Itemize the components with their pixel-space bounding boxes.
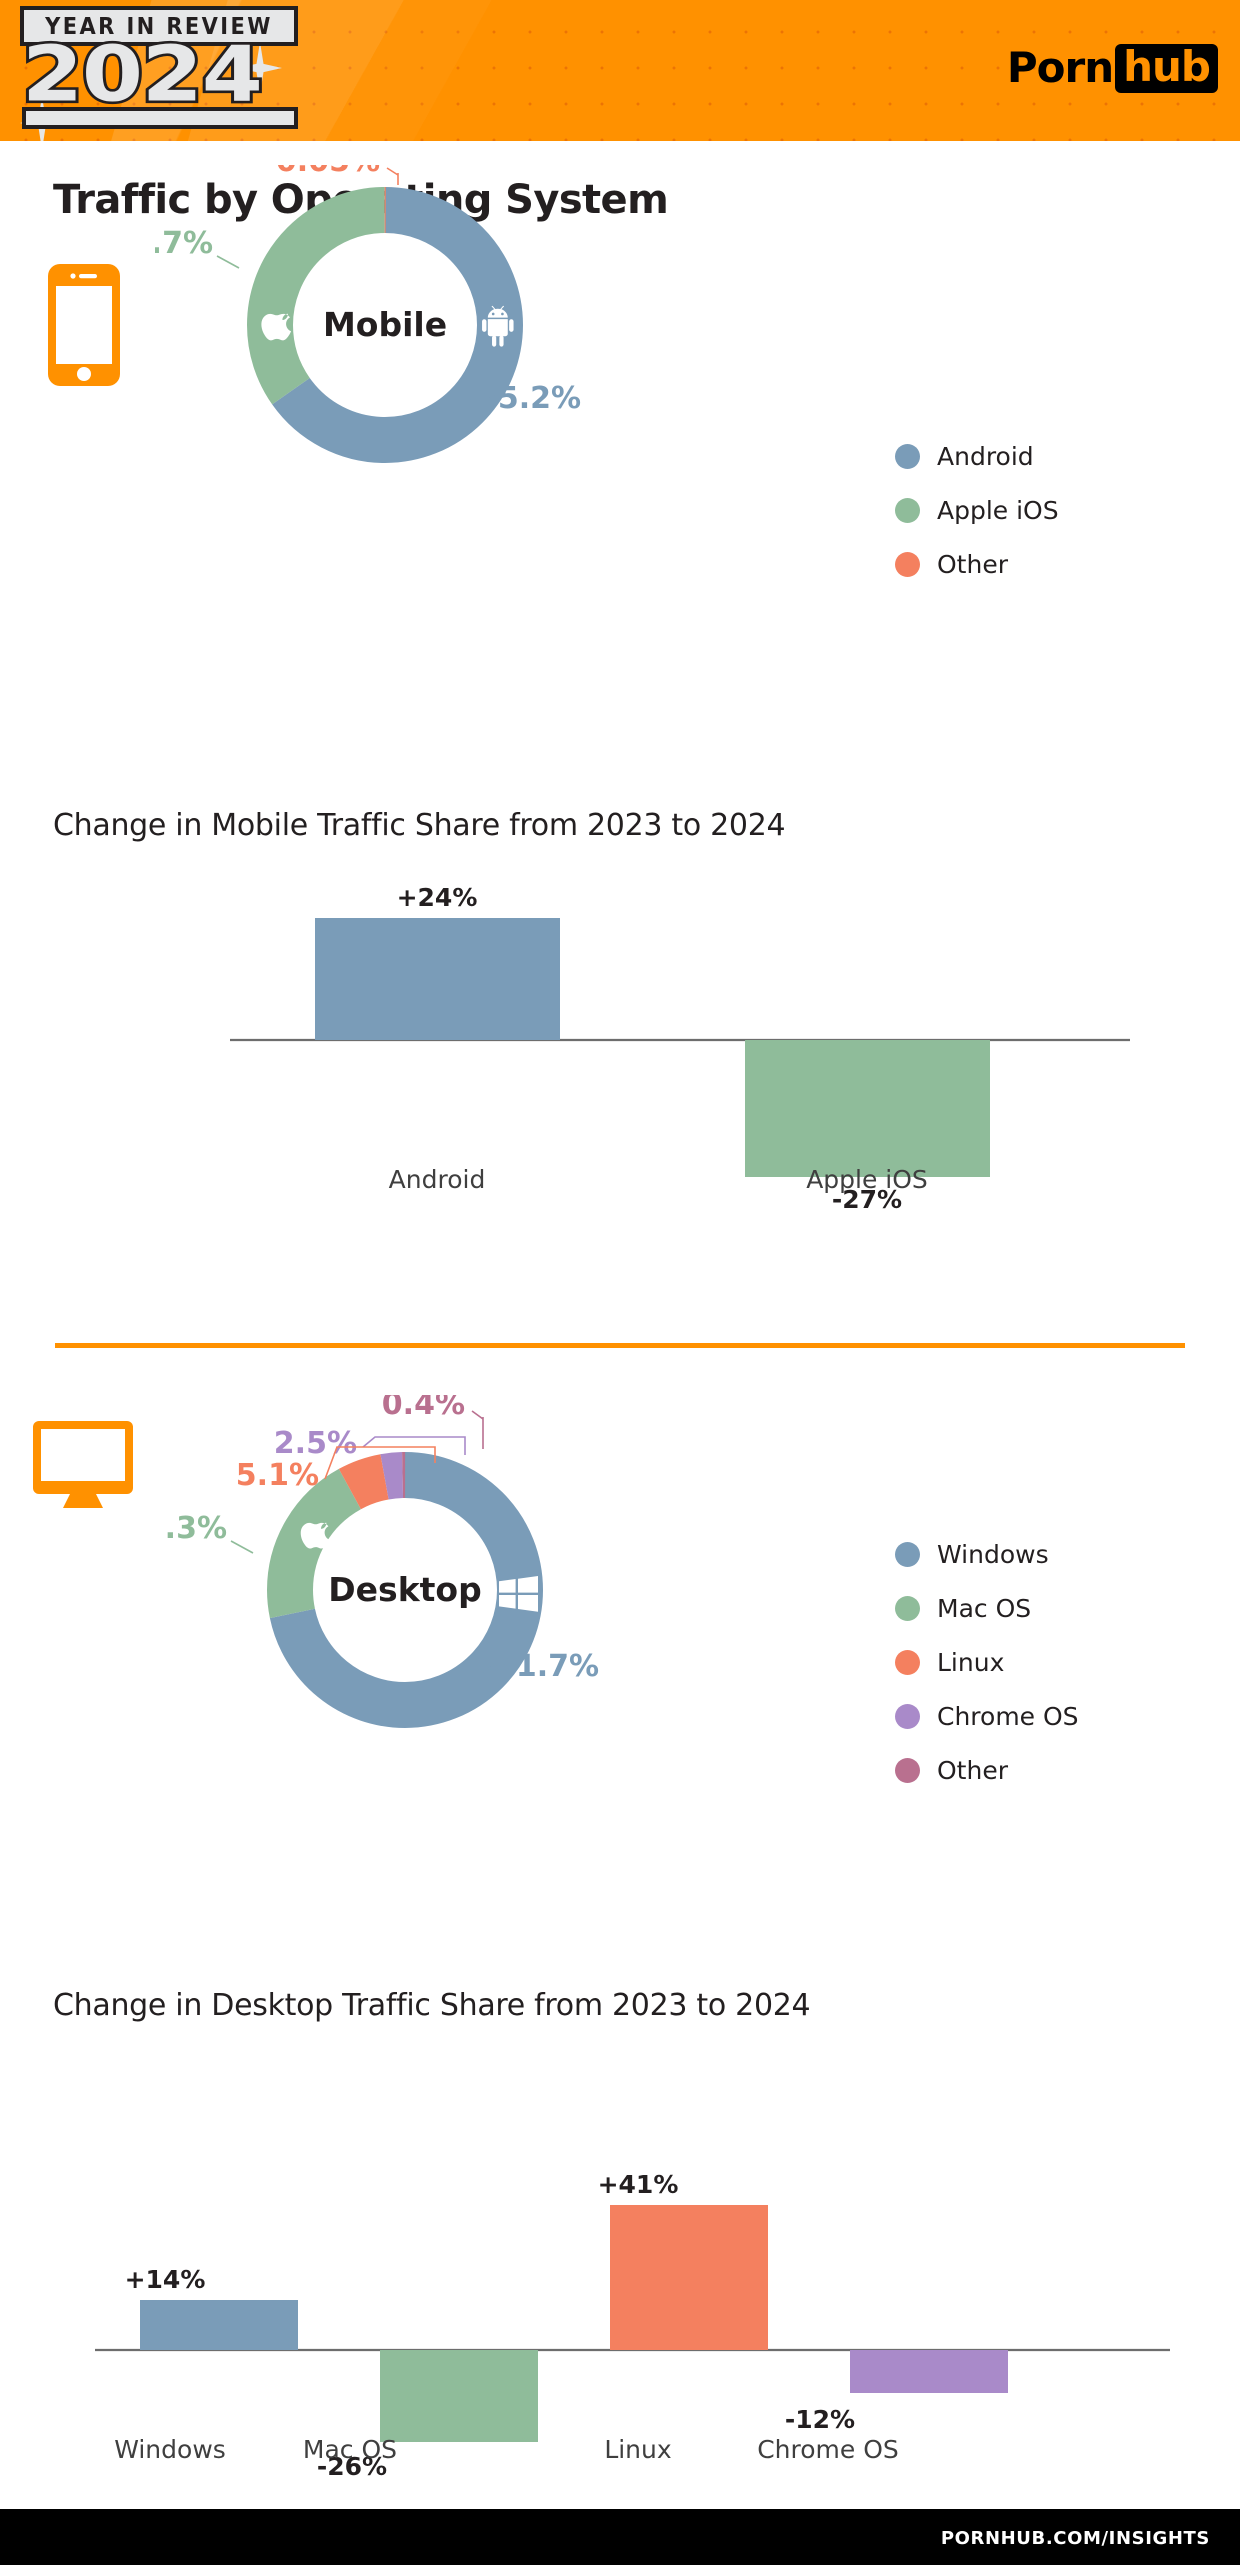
logo-porn-text: Porn: [1007, 47, 1113, 89]
bar-category-macos: Mac OS: [303, 2435, 397, 2464]
donut-center-label: Desktop: [328, 1570, 481, 1609]
legend-dot-icon: [895, 1650, 920, 1675]
desktop-change-section-title: Change in Desktop Traffic Share from 202…: [53, 1988, 810, 2023]
phone-icon: [48, 264, 120, 386]
bar-linux[interactable]: [610, 2205, 768, 2350]
legend-label: Windows: [937, 1540, 1049, 1569]
bar-value-android: +24%: [397, 883, 478, 912]
page-header: YEAR IN REVIEW 2024 Porn hub: [0, 0, 1240, 141]
bar-category-linux: Linux: [604, 2435, 671, 2464]
badge-year-text: 2024: [22, 29, 262, 118]
mobile-change-section-title: Change in Mobile Traffic Share from 2023…: [53, 808, 785, 843]
donut-label-other: 0.05%: [276, 165, 398, 185]
year-in-review-badge: YEAR IN REVIEW 2024: [14, 6, 314, 128]
legend-item-macos[interactable]: Mac OS: [895, 1592, 1079, 1625]
logo-hub-text: hub: [1115, 44, 1218, 93]
legend-dot-icon: [895, 1758, 920, 1783]
bar-windows[interactable]: [140, 2300, 298, 2350]
bar-value-chromeos: -12%: [785, 2405, 855, 2434]
donut-label-macos: 20.3%: [165, 1511, 253, 1553]
footer-url[interactable]: PORNHUB.COM/INSIGHTS: [941, 2528, 1210, 2549]
legend-dot-icon: [895, 444, 920, 469]
legend-label: Other: [937, 1756, 1008, 1785]
mobile-donut-chart: Mobile 0.05% 34.7% 65: [155, 165, 715, 485]
legend-item-windows[interactable]: Windows: [895, 1538, 1079, 1571]
legend-item-android[interactable]: Android: [895, 440, 1059, 473]
bar-category-apple-ios: Apple iOS: [806, 1165, 928, 1194]
legend-dot-icon: [895, 1596, 920, 1621]
badge-bottom-bar: [22, 107, 298, 129]
donut-pct-chromeos: 2.5%: [274, 1426, 357, 1461]
bar-category-android: Android: [389, 1165, 486, 1194]
bar-android[interactable]: [315, 918, 560, 1040]
donut-pct-windows: 71.7%: [495, 1649, 599, 1684]
legend-label: Apple iOS: [937, 496, 1059, 525]
donut-label-other: 0.4%: [382, 1395, 483, 1449]
legend-label: Chrome OS: [937, 1702, 1079, 1731]
donut-pct-other: 0.4%: [382, 1395, 465, 1422]
legend-dot-icon: [895, 1704, 920, 1729]
legend-label: Android: [937, 442, 1034, 471]
legend-label: Linux: [937, 1648, 1004, 1677]
legend-item-linux[interactable]: Linux: [895, 1646, 1079, 1679]
donut-center-label: Mobile: [323, 305, 447, 344]
badge-year: 2024: [14, 39, 306, 109]
donut-pct-other: 0.05%: [276, 165, 380, 179]
legend-item-other[interactable]: Other: [895, 548, 1059, 581]
bar-category-windows: Windows: [114, 2435, 226, 2464]
donut-pct-macos: 20.3%: [165, 1511, 227, 1546]
donut-pct-linux: 5.1%: [236, 1458, 319, 1493]
legend-label: Other: [937, 550, 1008, 579]
legend-item-chromeos[interactable]: Chrome OS: [895, 1700, 1079, 1733]
pornhub-logo[interactable]: Porn hub: [1007, 42, 1218, 94]
legend-dot-icon: [895, 1542, 920, 1567]
bar-apple-ios[interactable]: [745, 1040, 990, 1177]
donut-pct-ios: 34.7%: [155, 226, 213, 261]
section-divider: [55, 1343, 1185, 1348]
bar-chromeos[interactable]: [850, 2350, 1008, 2393]
legend-dot-icon: [895, 552, 920, 577]
legend-item-other[interactable]: Other: [895, 1754, 1079, 1787]
mobile-change-bar-chart: +24% Android -27% Apple iOS: [130, 870, 1130, 1260]
legend-item-apple-ios[interactable]: Apple iOS: [895, 494, 1059, 527]
bar-value-linux: +41%: [598, 2170, 679, 2199]
bar-macos[interactable]: [380, 2350, 538, 2442]
donut-label-ios: 34.7%: [155, 226, 239, 268]
bar-value-windows: +14%: [125, 2265, 206, 2294]
donut-pct-android: 65.2%: [477, 381, 581, 416]
monitor-icon: [32, 1420, 134, 1512]
desktop-legend: Windows Mac OS Linux Chrome OS Other: [895, 1538, 1079, 1808]
desktop-change-bar-chart: +14% Windows -26% Mac OS +41% Linux -12%…: [50, 2050, 1200, 2510]
legend-dot-icon: [895, 498, 920, 523]
page-footer: PORNHUB.COM/INSIGHTS: [0, 2509, 1240, 2565]
bar-category-chromeos: Chrome OS: [757, 2435, 899, 2464]
legend-label: Mac OS: [937, 1594, 1031, 1623]
mobile-legend: Android Apple iOS Other: [895, 440, 1059, 602]
desktop-donut-chart: Desktop 0.4% 2.5% 5.1% 20.3%: [165, 1395, 745, 1765]
